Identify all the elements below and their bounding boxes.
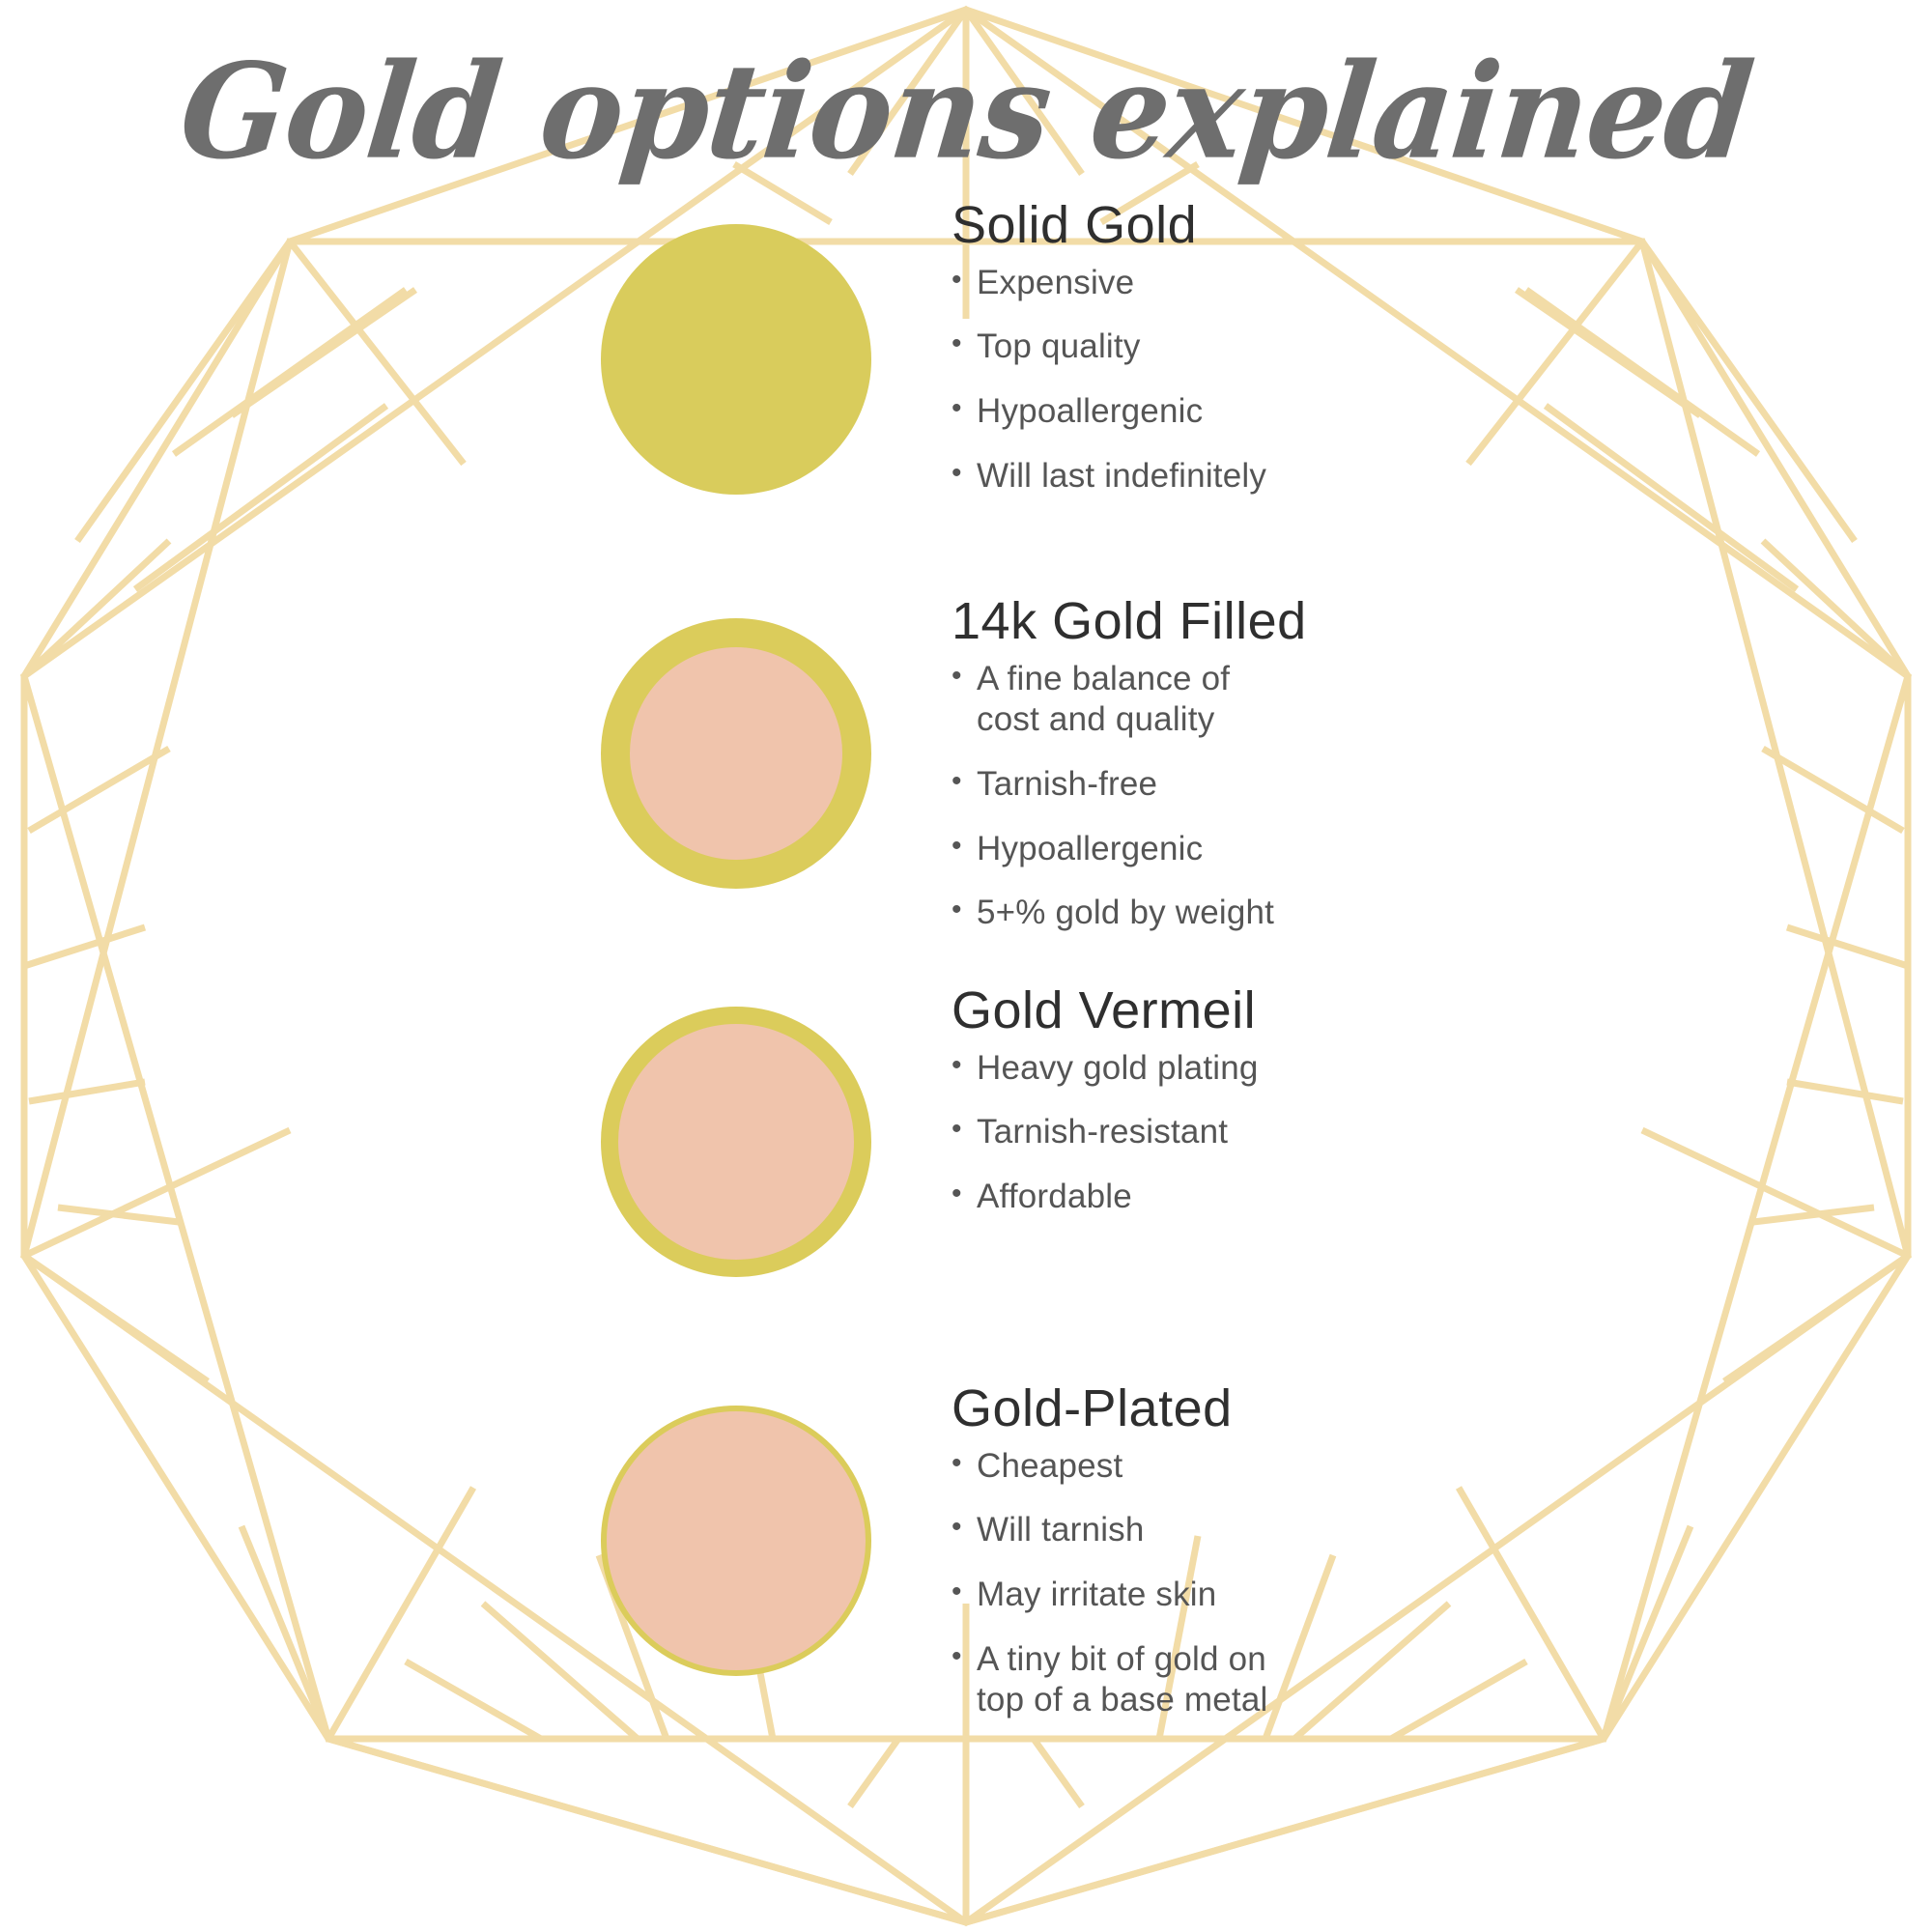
bullet-dot-icon: • <box>952 1048 977 1084</box>
bullet-dot-icon: • <box>952 263 977 298</box>
list-item: •Top quality <box>952 327 1357 368</box>
bullet-list-gold-vermeil: •Heavy gold plating •Tarnish-resistant •… <box>952 1048 1357 1218</box>
bullet-text: Hypoallergenic <box>977 829 1357 870</box>
bullet-list-gold-plated: •Cheapest •Will tarnish •May irritate sk… <box>952 1446 1377 1721</box>
list-item: •May irritate skin <box>952 1575 1377 1616</box>
list-item: •Will tarnish <box>952 1510 1377 1551</box>
bullet-dot-icon: • <box>952 1112 977 1148</box>
list-item: •Expensive <box>952 263 1357 304</box>
bullet-dot-icon: • <box>952 1177 977 1212</box>
list-item: •Affordable <box>952 1177 1357 1218</box>
section-heading-14k-gold-filled: 14k Gold Filled <box>952 594 1357 649</box>
section-solid-gold: Solid Gold •Expensive •Top quality •Hypo… <box>952 198 1357 520</box>
bullet-text: Cheapest <box>977 1446 1377 1488</box>
bullet-dot-icon: • <box>952 391 977 427</box>
page-title-text: Gold options explained <box>175 46 1758 178</box>
list-item: •Will last indefinitely <box>952 456 1357 497</box>
bullet-text: A fine balance of cost and quality <box>977 659 1357 741</box>
bullet-text: Will tarnish <box>977 1510 1377 1551</box>
bullet-text: Affordable <box>977 1177 1357 1218</box>
bullet-text: 5+% gold by weight <box>977 893 1357 934</box>
section-heading-gold-plated: Gold-Plated <box>952 1381 1377 1436</box>
section-heading-solid-gold: Solid Gold <box>952 198 1357 253</box>
bullet-text: Tarnish-free <box>977 764 1357 806</box>
section-heading-gold-vermeil: Gold Vermeil <box>952 983 1357 1038</box>
bullet-text: Tarnish-resistant <box>977 1112 1357 1153</box>
list-item: •Heavy gold plating <box>952 1048 1357 1090</box>
bullet-dot-icon: • <box>952 1510 977 1546</box>
bullet-list-14k-gold-filled: •A fine balance of cost and quality •Tar… <box>952 659 1357 934</box>
bullet-text: May irritate skin <box>977 1575 1377 1616</box>
bullet-text: Heavy gold plating <box>977 1048 1357 1090</box>
list-item: •Tarnish-free <box>952 764 1357 806</box>
bullet-list-solid-gold: •Expensive •Top quality •Hypoallergenic … <box>952 263 1357 497</box>
swatch-circle-gold-plated <box>601 1406 871 1676</box>
swatch-circle-14k-gold-filled <box>601 618 871 889</box>
bullet-dot-icon: • <box>952 829 977 865</box>
swatch-gold-vermeil <box>601 1007 871 1277</box>
swatch-14k-gold-filled <box>601 618 871 889</box>
list-item: •Hypoallergenic <box>952 391 1357 433</box>
swatch-solid-gold <box>601 224 871 495</box>
list-item: •5+% gold by weight <box>952 893 1357 934</box>
bullet-dot-icon: • <box>952 1639 977 1675</box>
list-item: •Cheapest <box>952 1446 1377 1488</box>
list-item: •Hypoallergenic <box>952 829 1357 870</box>
section-14k-gold-filled: 14k Gold Filled •A fine balance of cost … <box>952 594 1357 957</box>
bullet-dot-icon: • <box>952 456 977 492</box>
swatch-circle-solid-gold <box>601 224 871 495</box>
bullet-text: A tiny bit of gold on top of a base meta… <box>977 1639 1377 1721</box>
list-item: •Tarnish-resistant <box>952 1112 1357 1153</box>
bullet-dot-icon: • <box>952 1446 977 1482</box>
bullet-text: Top quality <box>977 327 1357 368</box>
swatch-gold-plated <box>601 1406 871 1676</box>
swatch-circle-gold-vermeil <box>601 1007 871 1277</box>
bullet-dot-icon: • <box>952 764 977 800</box>
bullet-dot-icon: • <box>952 1575 977 1610</box>
section-gold-vermeil: Gold Vermeil •Heavy gold plating •Tarnis… <box>952 983 1357 1241</box>
bullet-text: Hypoallergenic <box>977 391 1357 433</box>
infographic-page: Gold options explained Solid Gold •Expen… <box>0 0 1932 1932</box>
bullet-text: Will last indefinitely <box>977 456 1357 497</box>
page-title: Gold options explained <box>0 50 1932 174</box>
list-item: •A fine balance of cost and quality <box>952 659 1357 741</box>
bullet-dot-icon: • <box>952 327 977 362</box>
section-gold-plated: Gold-Plated •Cheapest •Will tarnish •May… <box>952 1381 1377 1745</box>
bullet-dot-icon: • <box>952 893 977 928</box>
list-item: •A tiny bit of gold on top of a base met… <box>952 1639 1377 1721</box>
bullet-dot-icon: • <box>952 659 977 695</box>
content-area: Solid Gold •Expensive •Top quality •Hypo… <box>0 0 1932 1932</box>
bullet-text: Expensive <box>977 263 1357 304</box>
